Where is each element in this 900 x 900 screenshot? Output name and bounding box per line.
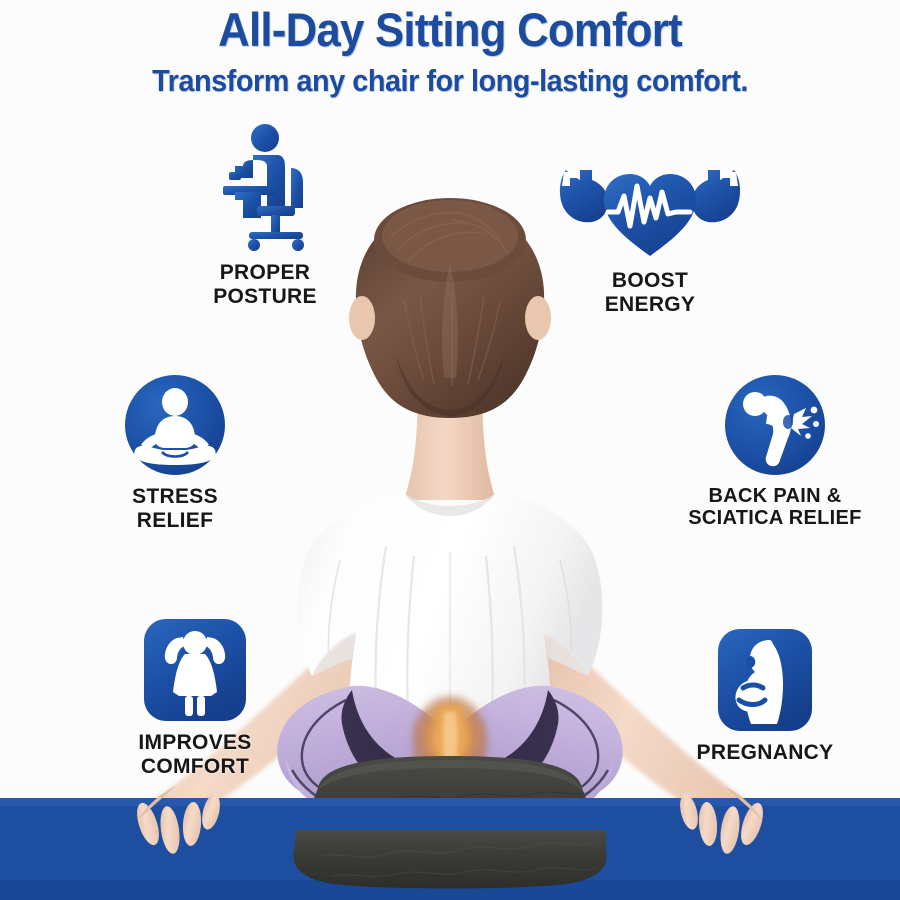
benefit-proper-posture[interactable]: PROPER POSTURE <box>155 122 375 308</box>
heart-with-biceps-icon <box>540 152 760 262</box>
benefit-label: BACK PAIN & SCIATICA RELIEF <box>665 485 885 530</box>
product-infographic: All-Day Sitting Comfort Transform any ch… <box>0 0 900 900</box>
benefit-label: BOOST ENERGY <box>540 269 760 316</box>
person-arms-raised-icon <box>85 616 305 724</box>
benefit-label: PREGNANCY <box>655 741 875 765</box>
benefit-label: PROPER POSTURE <box>155 261 375 308</box>
benefit-label: IMPROVES COMFORT <box>85 731 305 778</box>
benefit-label: STRESS RELIEF <box>65 485 285 532</box>
benefit-back-pain-sciatica-relief[interactable]: BACK PAIN & SCIATICA RELIEF <box>665 372 885 530</box>
benefit-boost-energy[interactable]: BOOST ENERGY <box>540 152 760 316</box>
page-title: All-Day Sitting Comfort <box>32 2 869 57</box>
person-sitting-at-desk-icon <box>155 122 375 254</box>
back-pain-person-icon <box>665 372 885 478</box>
benefit-pregnancy[interactable]: PREGNANCY <box>655 626 875 765</box>
meditating-person-icon <box>65 372 285 478</box>
page-subtitle: Transform any chair for long-lasting com… <box>32 63 869 99</box>
benefit-stress-relief[interactable]: STRESS RELIEF <box>65 372 285 532</box>
pregnant-woman-icon <box>655 626 875 734</box>
benefit-improves-comfort[interactable]: IMPROVES COMFORT <box>85 616 305 778</box>
